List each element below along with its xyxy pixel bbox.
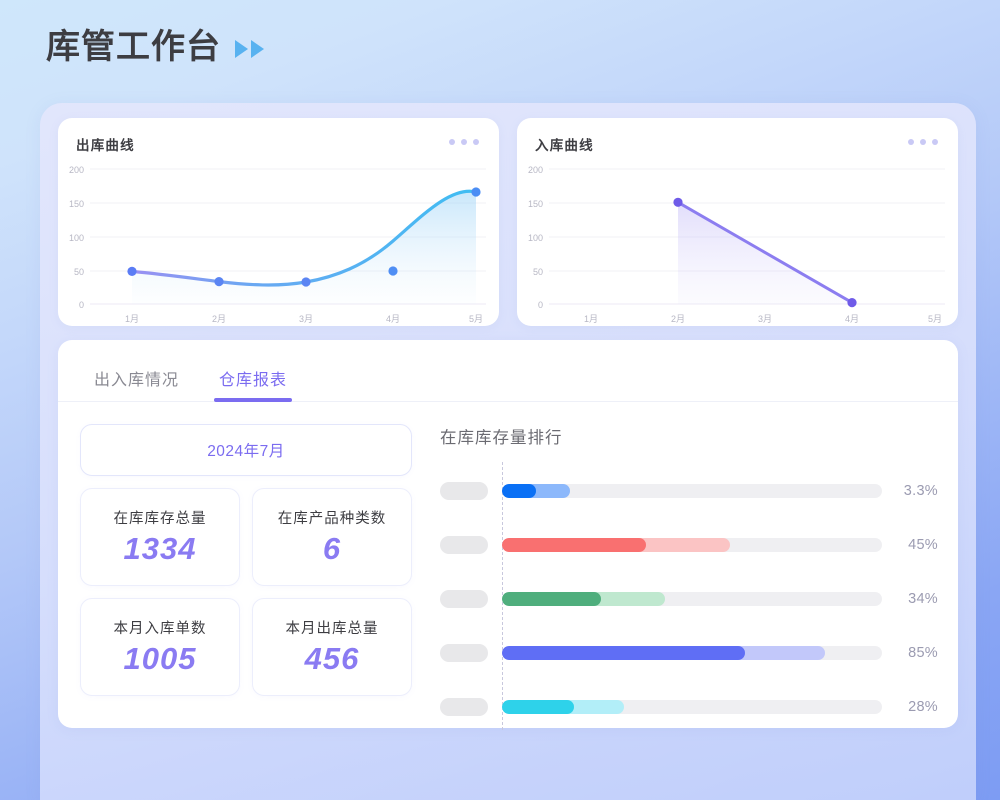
tab-label: 仓库报表 — [219, 372, 287, 389]
outbound-curve-card: 出库曲线 — [58, 118, 499, 326]
inbound-chart-plot: 200 150 100 50 0 1月 2月 3月 4月 5月 — [517, 156, 958, 326]
ranking-percent-label: 3.3% — [882, 483, 938, 499]
svg-text:100: 100 — [528, 233, 543, 243]
stats-column: 2024年7月 在库库存总量 1334 在库产品种类数 6 本月入库单数 100… — [58, 424, 418, 734]
arrow-triangle-2 — [251, 40, 264, 58]
ranking-bar-track — [502, 646, 882, 660]
svg-text:4月: 4月 — [386, 314, 400, 324]
ranking-list: 3.3%45%34%85%28% — [440, 464, 938, 734]
tab-warehouse-report[interactable]: 仓库报表 — [219, 366, 287, 401]
ranking-row: 45% — [440, 518, 938, 572]
ranking-label-pill — [440, 698, 488, 716]
ranking-percent-label: 28% — [882, 699, 938, 715]
svg-text:50: 50 — [533, 267, 543, 277]
outbound-chart-plot: 200 150 100 50 0 1月 2月 3月 4月 — [58, 156, 499, 326]
svg-text:100: 100 — [69, 233, 84, 243]
svg-text:150: 150 — [528, 199, 543, 209]
stat-value: 1334 — [124, 532, 197, 566]
svg-text:2月: 2月 — [212, 314, 226, 324]
stat-label: 本月入库单数 — [114, 617, 207, 638]
ranking-row: 85% — [440, 626, 938, 680]
ranking-label-pill — [440, 482, 488, 500]
ranking-label-pill — [440, 644, 488, 662]
ranking-bar-track — [502, 484, 882, 498]
ranking-column: 在库库存量排行 3.3%45%34%85%28% — [418, 424, 958, 734]
ranking-title: 在库库存量排行 — [440, 424, 938, 448]
ranking-row: 3.3% — [440, 464, 938, 518]
ranking-bar-primary — [502, 592, 601, 606]
svg-text:5月: 5月 — [928, 314, 942, 324]
charts-row: 出库曲线 — [58, 118, 958, 326]
ranking-row: 28% — [440, 680, 938, 734]
stat-card-inbound-orders: 本月入库单数 1005 — [80, 598, 240, 696]
arrow-triangle-1 — [235, 40, 248, 58]
stat-label: 在库产品种类数 — [278, 507, 387, 528]
ranking-percent-label: 45% — [882, 537, 938, 553]
svg-text:0: 0 — [79, 300, 84, 310]
svg-text:1月: 1月 — [125, 314, 139, 324]
svg-text:5月: 5月 — [469, 314, 483, 324]
stat-card-total-stock: 在库库存总量 1334 — [80, 488, 240, 586]
report-card: 出入库情况 仓库报表 2024年7月 在库库存总量 1334 在库产品种类数 6 — [58, 340, 958, 728]
ranking-bar-primary — [502, 484, 536, 498]
ranking-bar-track — [502, 592, 882, 606]
svg-text:200: 200 — [528, 165, 543, 175]
stat-value: 456 — [305, 642, 360, 676]
report-body: 2024年7月 在库库存总量 1334 在库产品种类数 6 本月入库单数 100… — [58, 402, 958, 734]
svg-text:4月: 4月 — [845, 314, 859, 324]
svg-text:3月: 3月 — [758, 314, 772, 324]
svg-text:2月: 2月 — [671, 314, 685, 324]
stat-value: 6 — [323, 532, 341, 566]
chart-header: 入库曲线 — [535, 134, 940, 154]
ranking-bar-primary — [502, 538, 646, 552]
ranking-bar-track — [502, 538, 882, 552]
stat-label: 本月出库总量 — [286, 617, 379, 638]
date-selector[interactable]: 2024年7月 — [80, 424, 412, 476]
svg-text:50: 50 — [74, 267, 84, 277]
chart-title-outbound: 出库曲线 — [76, 134, 135, 154]
tab-bar: 出入库情况 仓库报表 — [58, 340, 958, 402]
ranking-bar-primary — [502, 700, 574, 714]
ranking-bar-track — [502, 700, 882, 714]
chart-header: 出库曲线 — [76, 134, 481, 154]
svg-text:3月: 3月 — [299, 314, 313, 324]
double-right-arrow-icon — [235, 40, 264, 58]
page-title: 库管工作台 — [46, 30, 221, 64]
ranking-row: 34% — [440, 572, 938, 626]
inbound-curve-card: 入库曲线 200 150 100 50 0 — [517, 118, 958, 326]
page-header: 库管工作台 — [46, 30, 264, 64]
svg-text:150: 150 — [69, 199, 84, 209]
chart-title-inbound: 入库曲线 — [535, 134, 594, 154]
svg-text:1月: 1月 — [584, 314, 598, 324]
svg-text:200: 200 — [69, 165, 84, 175]
more-dots-icon[interactable] — [908, 134, 940, 145]
ranking-bar-primary — [502, 646, 745, 660]
stat-card-product-types: 在库产品种类数 6 — [252, 488, 412, 586]
ranking-label-pill — [440, 536, 488, 554]
ranking-label-pill — [440, 590, 488, 608]
stat-card-outbound-total: 本月出库总量 456 — [252, 598, 412, 696]
tab-inbound-outbound[interactable]: 出入库情况 — [94, 366, 179, 401]
tab-label: 出入库情况 — [94, 372, 179, 389]
svg-text:0: 0 — [538, 300, 543, 310]
stat-label: 在库库存总量 — [114, 507, 207, 528]
stat-value: 1005 — [124, 642, 197, 676]
more-dots-icon[interactable] — [449, 134, 481, 145]
ranking-percent-label: 85% — [882, 645, 938, 661]
ranking-percent-label: 34% — [882, 591, 938, 607]
date-selector-value: 2024年7月 — [207, 439, 285, 461]
stat-grid: 在库库存总量 1334 在库产品种类数 6 本月入库单数 1005 本月出库总量… — [80, 488, 418, 696]
